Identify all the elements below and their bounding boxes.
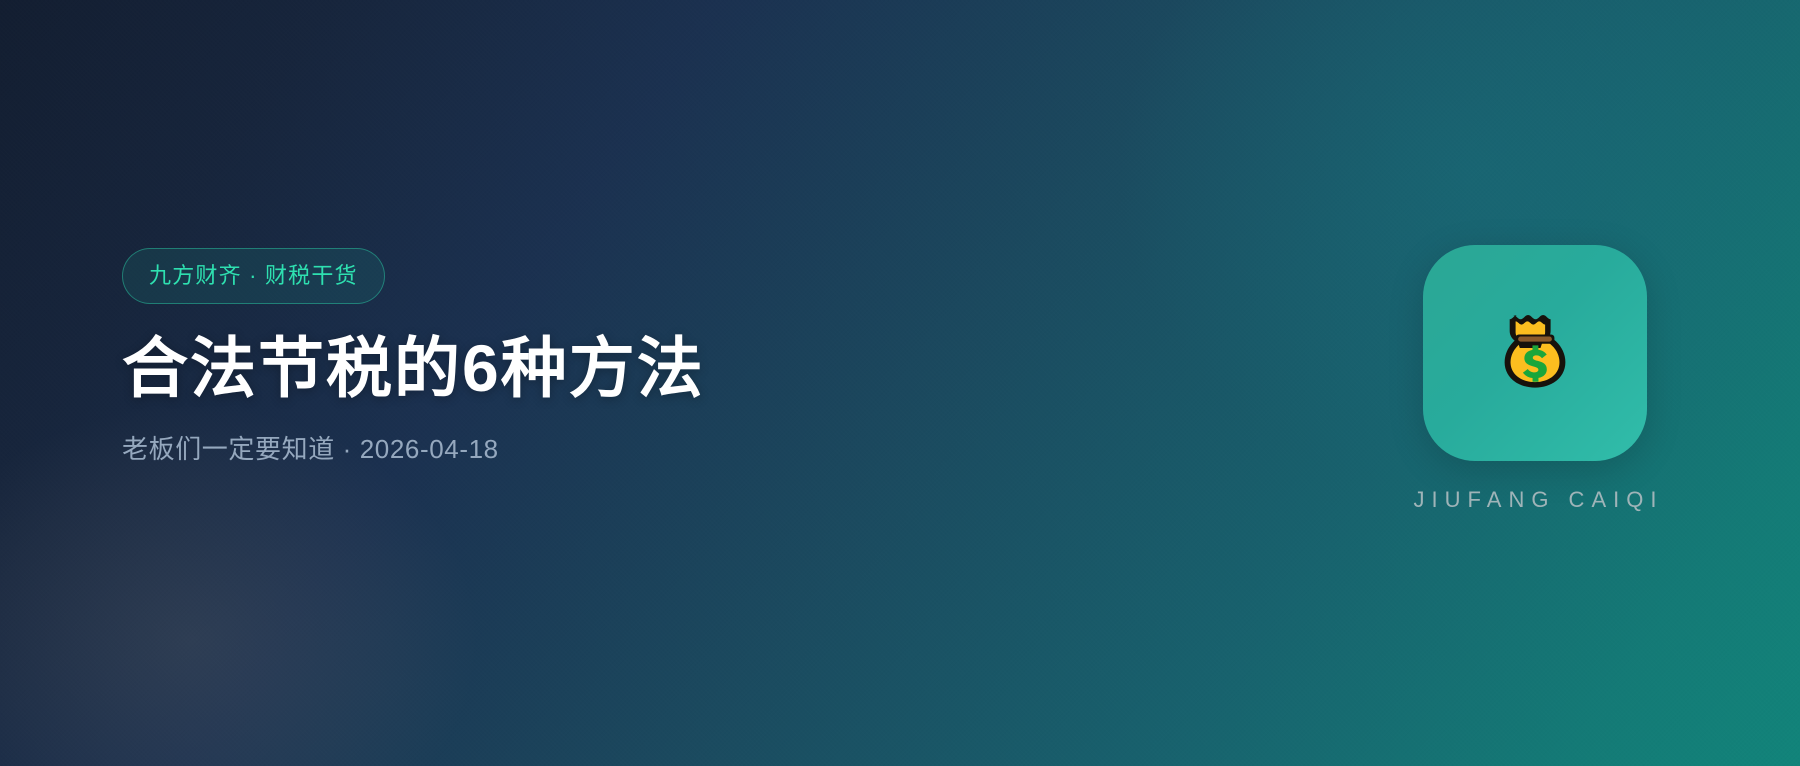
category-badge[interactable]: 九方财齐 · 财税干货 — [122, 248, 385, 304]
brand-logo-tile[interactable] — [1423, 245, 1647, 461]
brand-name-label: JIUFANG CAIQI — [1407, 487, 1664, 513]
article-cover-banner: 九方财齐 · 财税干货 合法节税的6种方法 老板们一定要知道 · 2026-04… — [0, 0, 1800, 766]
brand-block: JIUFANG CAIQI — [1423, 245, 1647, 513]
money-bag-icon — [1481, 299, 1589, 407]
page-title: 合法节税的6种方法 — [122, 334, 1022, 404]
banner-content: 九方财齐 · 财税干货 合法节税的6种方法 老板们一定要知道 · 2026-04… — [122, 248, 1022, 465]
page-subtitle: 老板们一定要知道 · 2026-04-18 — [122, 434, 1022, 465]
